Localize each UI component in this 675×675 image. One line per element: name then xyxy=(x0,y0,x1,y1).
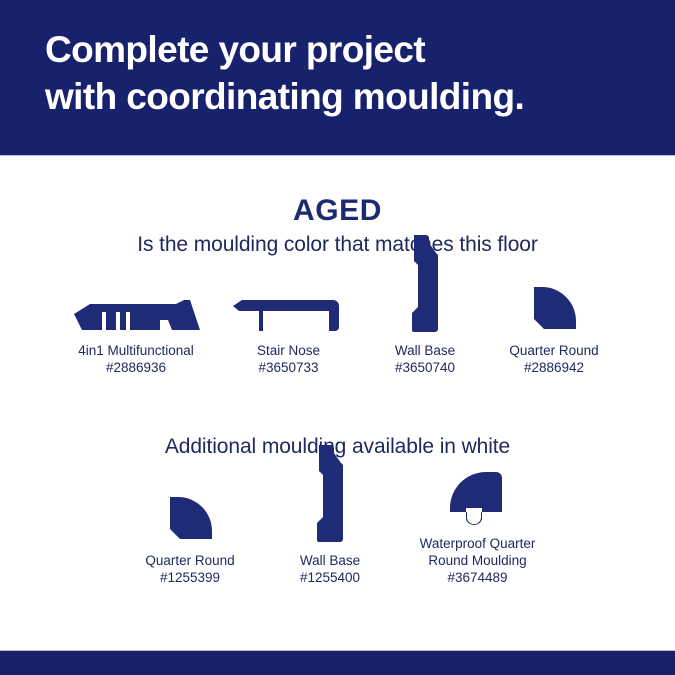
product-quarter-round[interactable]: Quarter Round #2886942 xyxy=(489,285,619,376)
aged-section-title: AGED xyxy=(0,194,675,228)
product-caption-waterproof-quarter-round: Waterproof Quarter Round Moulding #36744… xyxy=(420,535,536,586)
product-caption-stair-nose: Stair Nose #3650733 xyxy=(257,342,320,376)
product-caption-quarter-round-white: Quarter Round #1255399 xyxy=(145,552,234,586)
product-waterproof-quarter-round[interactable]: Waterproof Quarter Round Moulding #36744… xyxy=(395,472,560,586)
moulding-stair-nose-profile-icon xyxy=(233,287,345,333)
product-stair-nose[interactable]: Stair Nose #3650733 xyxy=(216,287,361,376)
product-wall-base-white[interactable]: Wall Base #1255400 xyxy=(265,443,395,586)
product-art-4in1 xyxy=(72,287,200,333)
product-art-wall-base-white xyxy=(315,443,345,543)
product-art-quarter-round-white xyxy=(166,495,214,543)
product-art-quarter-round xyxy=(530,285,578,333)
product-caption-wall-base-white: Wall Base #1255400 xyxy=(300,552,360,586)
page-title: Complete your project with coordinating … xyxy=(45,26,645,120)
product-4in1-multifunctional[interactable]: 4in1 Multifunctional #2886936 xyxy=(56,287,216,376)
moulding-waterproof-quarter-round-profile-icon xyxy=(448,472,508,526)
product-art-wall-base xyxy=(410,233,440,333)
product-caption-wall-base: Wall Base #3650740 xyxy=(395,342,455,376)
page-title-line-1: Complete your project xyxy=(45,26,645,73)
product-wall-base[interactable]: Wall Base #3650740 xyxy=(361,233,489,376)
moulding-quarter-round-profile-icon xyxy=(530,285,578,333)
moulding-wall-base-profile-icon xyxy=(315,443,345,543)
moulding-4in1-multifunctional-profile-icon xyxy=(72,287,200,333)
footer-bar xyxy=(0,651,675,675)
product-caption-4in1: 4in1 Multifunctional #2886936 xyxy=(78,342,194,376)
moulding-wall-base-profile-icon xyxy=(410,233,440,333)
product-art-stair-nose xyxy=(233,287,345,333)
page-title-line-2: with coordinating moulding. xyxy=(45,73,645,120)
content-area: AGED Is the moulding color that matches … xyxy=(0,156,675,651)
product-art-waterproof-quarter-round xyxy=(448,472,508,526)
moulding-promo-page: Complete your project with coordinating … xyxy=(0,0,675,675)
white-product-row: Quarter Round #1255399 Wall Base #125540… xyxy=(0,468,675,586)
product-caption-quarter-round: Quarter Round #2886942 xyxy=(509,342,598,376)
aged-section-subtitle: Is the moulding color that matches this … xyxy=(0,233,675,257)
aged-product-row: 4in1 Multifunctional #2886936 Stair Nose… xyxy=(0,266,675,376)
product-quarter-round-white[interactable]: Quarter Round #1255399 xyxy=(115,495,265,586)
moulding-quarter-round-profile-icon xyxy=(166,495,214,543)
header-banner: Complete your project with coordinating … xyxy=(0,0,675,156)
